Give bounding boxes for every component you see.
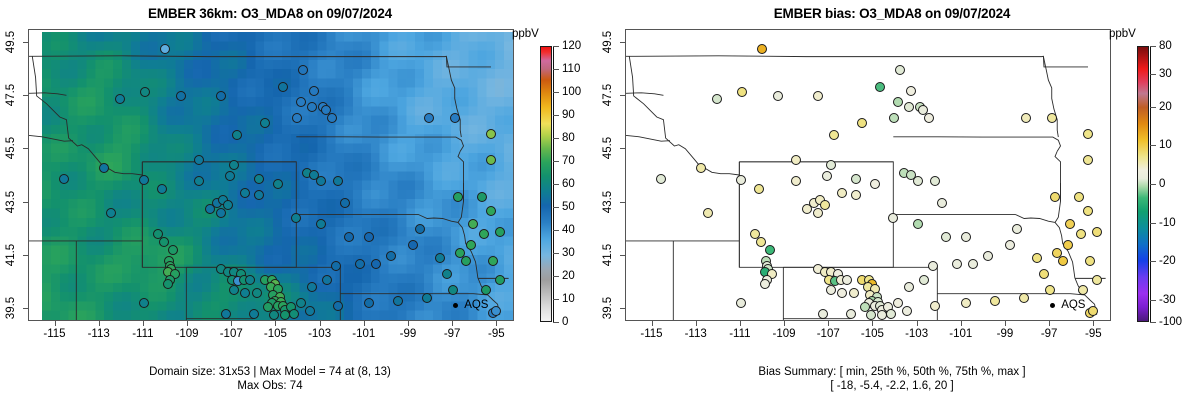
colorbar-tick-label: 100	[562, 86, 581, 98]
colorbar-tick-label: 0	[562, 316, 568, 328]
station-marker	[1092, 227, 1102, 237]
station-marker	[466, 240, 476, 250]
station-marker	[893, 97, 903, 107]
station-marker	[902, 306, 912, 316]
y-tick-label: 41.5	[602, 243, 614, 265]
station-marker	[225, 171, 235, 181]
x-tick-label: -103	[308, 328, 331, 340]
y-tick-label: 45.5	[5, 137, 17, 159]
panel-bias-caption-2: [ -18, -5.4, -2.2, 1.6, 20 ]	[622, 380, 1162, 394]
x-tick-label: -101	[352, 328, 375, 340]
station-marker	[822, 171, 832, 181]
x-tick-label: -113	[88, 328, 110, 340]
station-marker	[1021, 113, 1031, 123]
colorbar-tick-label: 120	[562, 40, 581, 52]
station-marker	[1083, 155, 1093, 165]
station-marker	[252, 288, 262, 298]
station-marker	[842, 275, 852, 285]
station-marker	[851, 174, 861, 184]
station-marker	[486, 155, 496, 165]
station-marker	[106, 208, 116, 218]
station-marker	[712, 94, 722, 104]
station-marker	[386, 251, 396, 261]
x-tick-label: -113	[685, 328, 707, 340]
y-tick-label: 45.5	[602, 137, 614, 159]
station-marker	[1085, 256, 1095, 266]
station-marker	[163, 279, 173, 289]
x-tick-label: -109	[773, 328, 796, 340]
station-marker	[757, 44, 767, 54]
station-marker	[168, 245, 178, 255]
station-marker	[488, 256, 498, 266]
colorbar-tick-label: 10	[562, 293, 575, 305]
station-marker	[1083, 129, 1093, 139]
aqs-legend-label: AQS	[1061, 299, 1085, 311]
x-tick-label: -97	[1041, 328, 1058, 340]
station-marker	[115, 94, 125, 104]
station-marker	[1065, 219, 1075, 229]
station-marker	[322, 275, 332, 285]
colorbar-tick-label: 60	[562, 178, 575, 190]
station-marker	[495, 275, 505, 285]
station-marker	[486, 206, 496, 216]
colorbar-gradient	[1137, 46, 1149, 322]
station-marker	[870, 179, 880, 189]
colorbar-units: ppbV	[1109, 28, 1136, 40]
panel-bias-caption-1: Bias Summary: [ min, 25th %, 50th %, 75t…	[622, 366, 1162, 380]
station-marker	[254, 190, 264, 200]
station-marker	[1019, 293, 1029, 303]
station-marker	[760, 279, 770, 289]
station-marker	[254, 174, 264, 184]
station-marker	[273, 179, 283, 189]
station-marker	[442, 269, 452, 279]
station-marker	[1052, 248, 1062, 258]
station-marker	[160, 44, 170, 54]
x-tick-label: -97	[444, 328, 461, 340]
station-marker	[904, 102, 914, 112]
y-tick-label: 49.5	[602, 31, 614, 53]
station-marker	[371, 259, 381, 269]
station-marker	[736, 175, 746, 185]
colorbar-tick-label: -30	[1159, 294, 1176, 306]
colorbar-tick-label: 50	[562, 201, 575, 213]
station-marker	[296, 97, 306, 107]
station-marker	[818, 309, 828, 319]
station-marker	[656, 174, 666, 184]
station-marker	[906, 86, 916, 96]
station-marker	[340, 198, 350, 208]
y-tick-label: 43.5	[602, 190, 614, 212]
station-marker	[849, 288, 859, 298]
panel-bias-title: EMBER bias: O3_MDA8 on 09/07/2024	[622, 6, 1162, 21]
station-marker	[851, 190, 861, 200]
panel-model-map-frame: AQS	[28, 29, 514, 321]
x-tick-label: -109	[176, 328, 199, 340]
station-marker	[486, 129, 496, 139]
station-marker	[952, 259, 962, 269]
station-marker	[990, 296, 1000, 306]
aqs-legend-dot	[1050, 303, 1055, 308]
station-marker	[1092, 275, 1102, 285]
station-marker	[424, 113, 434, 123]
station-marker	[232, 130, 242, 140]
station-marker	[1039, 269, 1049, 279]
y-tick-label: 49.5	[5, 31, 17, 53]
colorbar-tick-label: -100	[1159, 316, 1182, 328]
station-marker	[298, 65, 308, 75]
station-marker	[309, 86, 319, 96]
x-tick-label: -111	[729, 328, 750, 340]
station-marker	[703, 208, 713, 218]
colorbar-units: ppbV	[512, 28, 539, 40]
colorbar-tick-label: 90	[562, 109, 575, 121]
y-tick-label: 39.5	[602, 297, 614, 319]
station-marker	[450, 113, 460, 123]
station-marker	[468, 219, 478, 229]
panel-bias: EMBER bias: O3_MDA8 on 09/07/2024 AQS -1…	[600, 0, 1200, 409]
station-marker	[305, 306, 315, 316]
x-tick-label: -107	[817, 328, 840, 340]
station-marker	[913, 219, 923, 229]
colorbar-tick-label: 80	[562, 132, 575, 144]
y-tick-label: 43.5	[5, 190, 17, 212]
station-marker	[422, 293, 432, 303]
y-tick-label: 47.5	[5, 84, 17, 106]
y-tick-label: 47.5	[602, 84, 614, 106]
colorbar-gradient	[540, 46, 552, 322]
station-marker	[1050, 192, 1060, 202]
station-marker	[765, 245, 775, 255]
station-marker	[327, 113, 337, 123]
station-marker	[1047, 113, 1057, 123]
colorbar-tick-label: 20	[1159, 101, 1172, 113]
x-tick-label: -101	[949, 328, 972, 340]
colorbar-tick-label: 110	[562, 63, 580, 75]
x-tick-label: -111	[132, 328, 153, 340]
station-marker	[495, 227, 505, 237]
y-tick-label: 41.5	[5, 243, 17, 265]
station-marker	[754, 184, 764, 194]
station-marker	[895, 65, 905, 75]
station-marker	[355, 259, 365, 269]
panel-model-caption-2: Max Obs: 74	[0, 380, 540, 394]
aqs-legend-dot	[453, 303, 458, 308]
station-marker	[913, 176, 923, 186]
colorbar-tick-label: 30	[562, 247, 575, 259]
y-tick-label: 39.5	[5, 297, 17, 319]
station-marker	[889, 113, 899, 123]
station-marker	[292, 113, 302, 123]
colorbar-tick-label: 30	[1159, 68, 1172, 80]
station-marker	[919, 275, 929, 285]
station-marker	[157, 184, 167, 194]
station-marker	[393, 296, 403, 306]
station-marker	[59, 174, 69, 184]
x-tick-label: -99	[997, 328, 1014, 340]
colorbar-tick-label: 80	[1159, 40, 1172, 52]
x-tick-label: -115	[640, 328, 662, 340]
station-marker	[937, 198, 947, 208]
x-tick-label: -105	[861, 328, 884, 340]
colorbar-tick-label: 70	[562, 155, 575, 167]
station-marker	[1063, 240, 1073, 250]
colorbar-tick-label: -10	[1159, 217, 1176, 229]
station-marker	[1083, 206, 1093, 216]
colorbar-tick-label: -20	[1159, 255, 1176, 267]
x-tick-label: -95	[488, 328, 505, 340]
aqs-legend-label: AQS	[464, 299, 488, 311]
figure-root: EMBER 36km: O3_MDA8 on 09/07/2024 AQS -1…	[0, 0, 1200, 409]
station-marker	[221, 309, 231, 319]
station-marker	[455, 248, 465, 258]
station-marker	[968, 259, 978, 269]
x-tick-label: -103	[905, 328, 928, 340]
panel-bias-map-frame: AQS	[625, 29, 1111, 321]
colorbar-tick-label: 10	[1159, 139, 1172, 151]
station-marker	[453, 192, 463, 202]
station-marker	[924, 113, 934, 123]
colorbar-tick-label: 40	[562, 224, 575, 236]
panel-model-title: EMBER 36km: O3_MDA8 on 09/07/2024	[0, 6, 540, 21]
x-tick-label: -105	[264, 328, 287, 340]
x-tick-label: -95	[1085, 328, 1102, 340]
station-marker	[316, 176, 326, 186]
panel-model: EMBER 36km: O3_MDA8 on 09/07/2024 AQS -1…	[0, 0, 600, 409]
station-marker	[829, 130, 839, 140]
station-marker	[307, 102, 317, 112]
panel-model-caption-1: Domain size: 31x53 | Max Model = 74 at (…	[0, 366, 540, 380]
colorbar-tick-label: 20	[562, 270, 575, 282]
station-marker	[139, 175, 149, 185]
x-tick-label: -99	[400, 328, 417, 340]
x-tick-label: -115	[43, 328, 65, 340]
colorbar-tick-label: 0	[1159, 178, 1165, 190]
x-tick-label: -107	[220, 328, 243, 340]
station-marker	[316, 219, 326, 229]
station-marker	[983, 251, 993, 261]
station-marker	[245, 275, 255, 285]
